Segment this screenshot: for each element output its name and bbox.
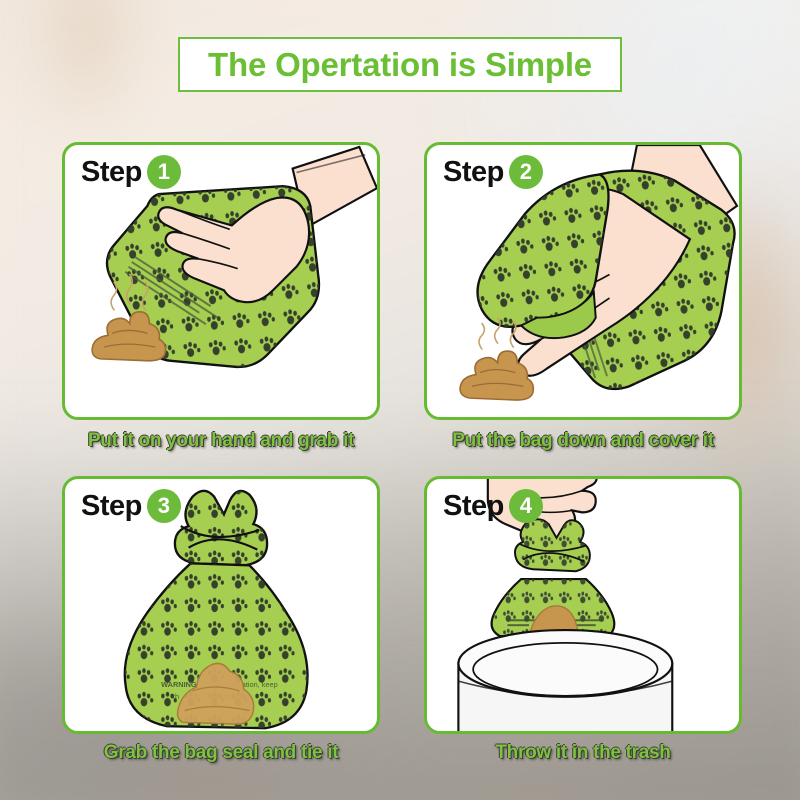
- step-1-label: Step 1: [81, 155, 181, 189]
- step-3-label: Step 3: [81, 489, 181, 523]
- caption-step-3: Grab the bag seal and tie it: [62, 742, 380, 764]
- caption-step-1: Put it on your hand and grab it: [62, 430, 380, 452]
- trash-can-4: [458, 630, 672, 732]
- step-panel-2: Step 2: [424, 142, 742, 420]
- step-3-number: 3: [147, 489, 181, 523]
- step-1-number: 1: [147, 155, 181, 189]
- svg-text:WARNING: WARNING: [161, 680, 197, 689]
- step-panel-3: WARNING of suffocation, keep th and chil…: [62, 476, 380, 734]
- step-3-word: Step: [81, 490, 142, 523]
- step-panel-4: Step 4: [424, 476, 742, 734]
- step-4-label: Step 4: [443, 489, 543, 523]
- step-panel-1: Step 1: [62, 142, 380, 420]
- step-1-word: Step: [81, 156, 142, 189]
- step-2-label: Step 2: [443, 155, 543, 189]
- caption-step-2: Put the bag down and cover it: [424, 430, 742, 452]
- step-4-word: Step: [443, 490, 504, 523]
- svg-text:th: th: [173, 692, 179, 701]
- step-2-number: 2: [509, 155, 543, 189]
- title-box: The Opertation is Simple: [178, 37, 622, 92]
- step-2-word: Step: [443, 156, 504, 189]
- step-4-number: 4: [509, 489, 543, 523]
- infographic-page: The Opertation is Simple: [0, 0, 800, 800]
- page-title: The Opertation is Simple: [208, 46, 592, 84]
- caption-step-4: Throw it in the trash: [424, 742, 742, 764]
